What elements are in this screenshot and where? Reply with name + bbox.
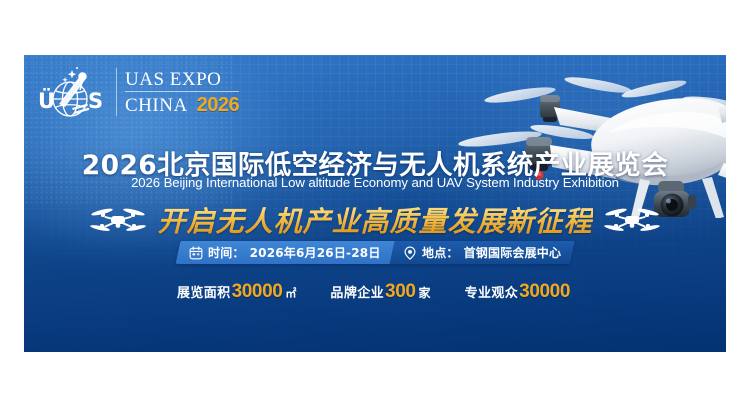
slogan-row: 开启无人机产业高质量发展新征程 — [24, 200, 726, 240]
stat-value: 300 — [385, 281, 416, 303]
drone-icon — [89, 205, 147, 235]
stat-label: 展览面积 — [177, 282, 231, 301]
exhibition-title-english: 2026 Beijing International Low altitude … — [24, 175, 726, 190]
svg-text:Ü: Ü — [38, 88, 55, 113]
logo-wordmark: UAS EXPO CHINA 2026 — [125, 70, 239, 115]
event-date-segment: 时间： 2026年6月26日-28日 — [178, 241, 392, 264]
stat-item: 品牌企业 300 家 — [330, 281, 430, 303]
slogan-text: 开启无人机产业高质量发展新征程 — [157, 200, 592, 240]
quadcopter-drone-photo — [402, 55, 726, 218]
logo-china-text: CHINA — [125, 96, 188, 115]
brand-logo-lockup: Ü S UAS EXPO CHINA 2026 — [36, 64, 239, 120]
stat-item: 展览面积 30000 ㎡ — [177, 281, 296, 303]
exhibition-banner: Ü S UAS EXPO CHINA 2026 2026北京国际低空经济与无人机… — [24, 55, 726, 352]
stat-unit: ㎡ — [285, 285, 296, 301]
svg-text:S: S — [88, 89, 103, 113]
stat-value: 30000 — [232, 281, 283, 303]
logo-year-text: 2026 — [197, 95, 240, 115]
event-date-value: 2026年6月26日-28日 — [250, 244, 381, 261]
drone-icon — [603, 205, 661, 235]
event-venue-value: 首钢国际会展中心 — [463, 244, 561, 261]
logo-divider — [116, 68, 117, 116]
event-info-bar: 时间： 2026年6月26日-28日 地点： 首钢国际会展中心 — [24, 241, 726, 264]
map-pin-icon — [403, 246, 417, 260]
exhibition-stats-row: 展览面积 30000 ㎡ 品牌企业 300 家 专业观众 30000 — [24, 281, 726, 303]
stat-unit: 家 — [419, 284, 431, 301]
uas-globe-satellite-logo-icon: Ü S — [36, 64, 110, 120]
stat-label: 品牌企业 — [330, 282, 384, 301]
calendar-icon — [189, 246, 203, 260]
logo-line-china-year: CHINA 2026 — [125, 95, 239, 115]
stat-item: 专业观众 30000 — [465, 281, 573, 303]
event-venue-segment: 地点： 首钢国际会展中心 — [389, 241, 574, 264]
event-venue-label: 地点： — [422, 244, 459, 261]
stat-label: 专业观众 — [465, 282, 519, 301]
stat-value: 30000 — [519, 281, 570, 303]
event-info-pill: 时间： 2026年6月26日-28日 地点： 首钢国际会展中心 — [176, 241, 575, 264]
event-date-label: 时间： — [208, 244, 245, 261]
logo-line-uas-expo: UAS EXPO — [125, 70, 239, 92]
